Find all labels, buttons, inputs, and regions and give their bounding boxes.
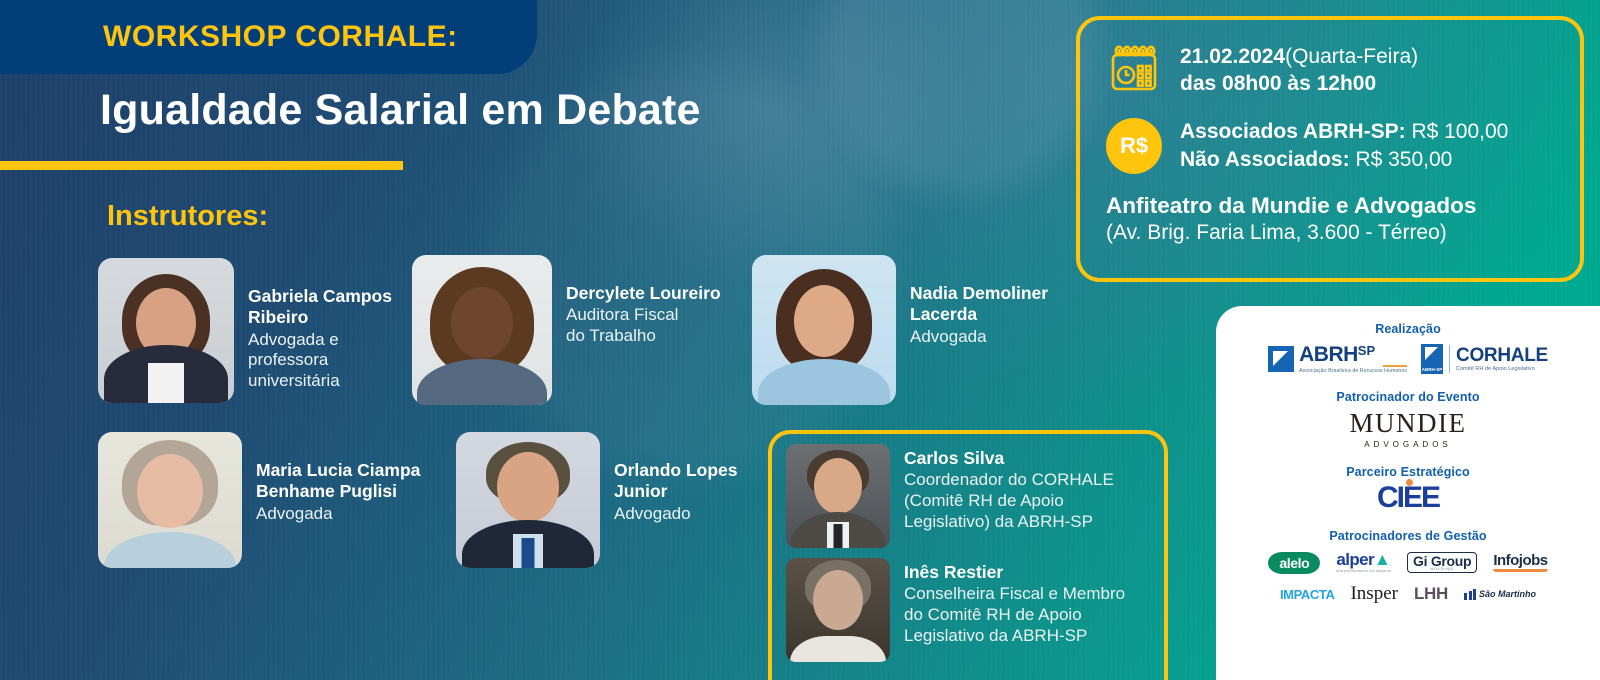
currency-icon: R$ [1106, 118, 1162, 174]
speaker-name: Dercylete Loureiro [566, 283, 721, 304]
corhale-logo-subtitle: Comitê RH de Apoio Legislativo [1456, 367, 1548, 373]
venue-name: Anfiteatro da Mundie e Advogados [1106, 192, 1562, 220]
speaker-role: Auditora Fiscal do Trabalho [566, 305, 721, 346]
speaker-name: Orlando Lopes Junior [614, 460, 737, 503]
price-nonmember: Não Associados: R$ 350,00 [1180, 146, 1508, 174]
title-tab: WORKSHOP CORHALE: [0, 0, 537, 74]
infojobs-logo: Infojobs [1493, 553, 1547, 572]
avatar [786, 558, 890, 662]
speaker-name: Nadia Demoliner Lacerda [910, 283, 1048, 326]
sponsors-event-title: Patrocinador do Evento [1232, 390, 1584, 404]
corhale-mark-icon: ABRH-SP [1421, 344, 1443, 374]
avatar [752, 255, 896, 405]
event-weekday: (Quarta-Feira) [1285, 45, 1418, 68]
calendar-icon [1106, 42, 1162, 98]
management-sponsors-row-1: alelo alper▲ alta performance em seguros… [1232, 551, 1584, 574]
gigroup-logo-text: Gi Group [1413, 554, 1471, 568]
insper-logo: Insper [1350, 583, 1397, 605]
realization-logos: ABRHSP Associação Brasileira de Recursos… [1232, 344, 1584, 374]
speaker-card-carlos-silva: Carlos Silva Coordenador do CORHALE (Com… [786, 444, 1114, 548]
venue-address: (Av. Brig. Faria Lima, 3.600 - Térreo) [1106, 220, 1562, 246]
speaker-role: Advogado [614, 504, 737, 525]
avatar [412, 255, 552, 405]
abrh-underline [1383, 365, 1407, 367]
title-underline-rule [0, 161, 403, 170]
speaker-name: Carlos Silva [904, 448, 1114, 469]
speaker-card-maria-lucia: Maria Lucia Ciampa Benhame Puglisi Advog… [98, 432, 420, 568]
avatar [98, 432, 242, 568]
mundie-logo: MUNDIE ADVOGADOS [1232, 408, 1584, 449]
instructors-heading: Instrutores: [107, 200, 268, 233]
speaker-role: Conselheira Fiscal e Membro do Comitê RH… [904, 584, 1125, 646]
corhale-mark-badge: ABRH-SP [1421, 366, 1443, 374]
speaker-name: Maria Lucia Ciampa Benhame Puglisi [256, 460, 420, 503]
mundie-logo-text: MUNDIE [1232, 408, 1584, 439]
abrh-logo-subtitle: Associação Brasileira de Recursos Humano… [1299, 369, 1407, 374]
gigroup-logo: Gi Group HOLDING [1407, 552, 1477, 574]
price-member-value: R$ 100,00 [1411, 120, 1508, 143]
abrh-mark-icon [1268, 346, 1294, 372]
venue-block: Anfiteatro da Mundie e Advogados (Av. Br… [1106, 192, 1562, 246]
speaker-name: Gabriela Campos Ribeiro [248, 286, 392, 329]
price-row: R$ Associados ABRH-SP: R$ 100,00 Não Ass… [1106, 118, 1562, 174]
logo-divider [1449, 345, 1450, 373]
alelo-logo: alelo [1268, 552, 1320, 574]
management-sponsors-row-2: IMPACTA Insper LHH São Martinho [1232, 583, 1584, 605]
corhale-logo-text: CORHALE [1456, 346, 1548, 365]
alper-mark-icon: ▲ [1374, 550, 1391, 569]
speaker-card-nadia: Nadia Demoliner Lacerda Advogada [752, 255, 1048, 405]
impacta-logo: IMPACTA [1280, 587, 1335, 602]
speaker-card-gabriela: Gabriela Campos Ribeiro Advogada e profe… [98, 258, 392, 403]
abrh-logo-sup: SP [1358, 343, 1375, 358]
sponsors-panel: Realização ABRHSP Associação Brasileira … [1216, 306, 1600, 680]
speaker-role: Advogada e professora universitária [248, 330, 392, 392]
event-date-value: 21.02.2024 [1180, 45, 1285, 68]
price-nonmember-label: Não Associados: [1180, 148, 1350, 171]
alper-logo-subtitle: alta performance em seguros [1336, 570, 1391, 574]
alper-logo-text: alper [1336, 550, 1374, 569]
event-kicker: WORKSHOP CORHALE: [103, 20, 458, 54]
ciee-logo: CIEE [1377, 481, 1439, 515]
speaker-name: Inês Restier [904, 562, 1125, 583]
abrh-logo-text: ABRH [1299, 343, 1358, 366]
event-time: das 08h00 às 12h00 [1180, 70, 1418, 97]
speaker-card-orlando: Orlando Lopes Junior Advogado [456, 432, 737, 568]
event-date: 21.02.2024(Quarta-Feira) [1180, 43, 1418, 70]
price-member: Associados ABRH-SP: R$ 100,00 [1180, 118, 1508, 146]
speaker-card-dercylete: Dercylete Loureiro Auditora Fiscal do Tr… [412, 255, 721, 405]
speaker-role: Advogada [910, 327, 1048, 348]
sao-martinho-mark-icon [1464, 589, 1476, 600]
sao-martinho-logo: São Martinho [1464, 589, 1536, 600]
sponsors-partner-title: Parceiro Estratégico [1232, 465, 1584, 479]
infojobs-logo-text: Infojobs [1493, 553, 1547, 568]
sponsors-realization-title: Realização [1232, 322, 1584, 336]
ciee-logo-text: CIEE [1377, 481, 1439, 514]
avatar [786, 444, 890, 548]
avatar [98, 258, 234, 403]
background-photo-figure [560, 0, 980, 290]
speaker-role: Advogada [256, 504, 420, 525]
abrh-sp-logo: ABRHSP Associação Brasileira de Recursos… [1268, 344, 1407, 374]
price-member-label: Associados ABRH-SP: [1180, 120, 1406, 143]
speaker-card-ines-restier: Inês Restier Conselheira Fiscal e Membro… [786, 558, 1125, 662]
mundie-logo-subtitle: ADVOGADOS [1232, 440, 1584, 449]
lhh-logo: LHH [1414, 584, 1448, 604]
infojobs-swoosh-icon [1493, 569, 1547, 572]
page-title: Igualdade Salarial em Debate [100, 86, 701, 135]
sao-martinho-logo-text: São Martinho [1479, 589, 1536, 599]
event-info-card: 21.02.2024(Quarta-Feira) das 08h00 às 12… [1076, 16, 1584, 282]
event-banner: WORKSHOP CORHALE: Igualdade Salarial em … [0, 0, 1600, 680]
alper-logo: alper▲ alta performance em seguros [1336, 551, 1391, 574]
corhale-logo: ABRH-SP CORHALE Comitê RH de Apoio Legis… [1421, 344, 1548, 374]
avatar [456, 432, 600, 568]
sponsors-management-title: Patrocinadores de Gestão [1232, 529, 1584, 543]
speaker-role: Coordenador do CORHALE (Comitê RH de Apo… [904, 470, 1114, 532]
price-nonmember-value: R$ 350,00 [1355, 148, 1452, 171]
date-row: 21.02.2024(Quarta-Feira) das 08h00 às 12… [1106, 42, 1562, 98]
